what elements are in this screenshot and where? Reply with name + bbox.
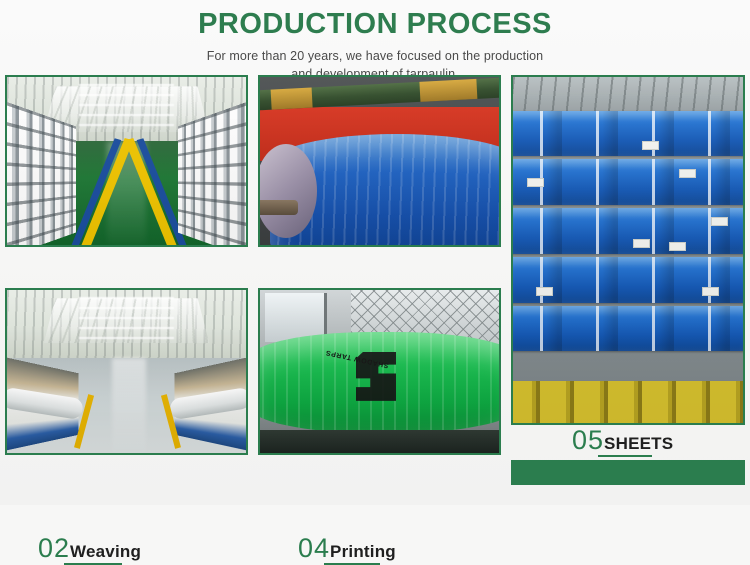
caption-underline	[598, 455, 652, 457]
step-photo-sheets	[511, 75, 745, 425]
step-label: Printing	[330, 543, 396, 562]
step-photo-printing: SHADOW TARPS	[258, 288, 501, 455]
step-number: 04	[298, 535, 330, 562]
header: PRODUCTION PROCESS For more than 20 year…	[0, 0, 750, 84]
step-photo-coating	[258, 75, 501, 247]
step-number: 02	[38, 535, 70, 562]
step-caption-printing: 04 Printing	[298, 535, 396, 562]
step-caption-sheets: 05 SHEETS	[572, 427, 673, 454]
process-grid: 01 Yarn extruding 02 Weaving	[0, 75, 750, 505]
subtitle-line-1: For more than 20 years, we have focused …	[0, 47, 750, 65]
step-number: 05	[572, 427, 604, 454]
step-label: SHEETS	[604, 435, 673, 454]
step-label: Weaving	[70, 543, 141, 562]
green-accent-bar	[511, 460, 745, 485]
step-photo-yarn-extruding	[5, 75, 248, 247]
step-photo-weaving	[5, 288, 248, 455]
production-process-infographic: PRODUCTION PROCESS For more than 20 year…	[0, 0, 750, 505]
step-caption-weaving: 02 Weaving	[38, 535, 141, 562]
page-title: PRODUCTION PROCESS	[0, 8, 750, 41]
